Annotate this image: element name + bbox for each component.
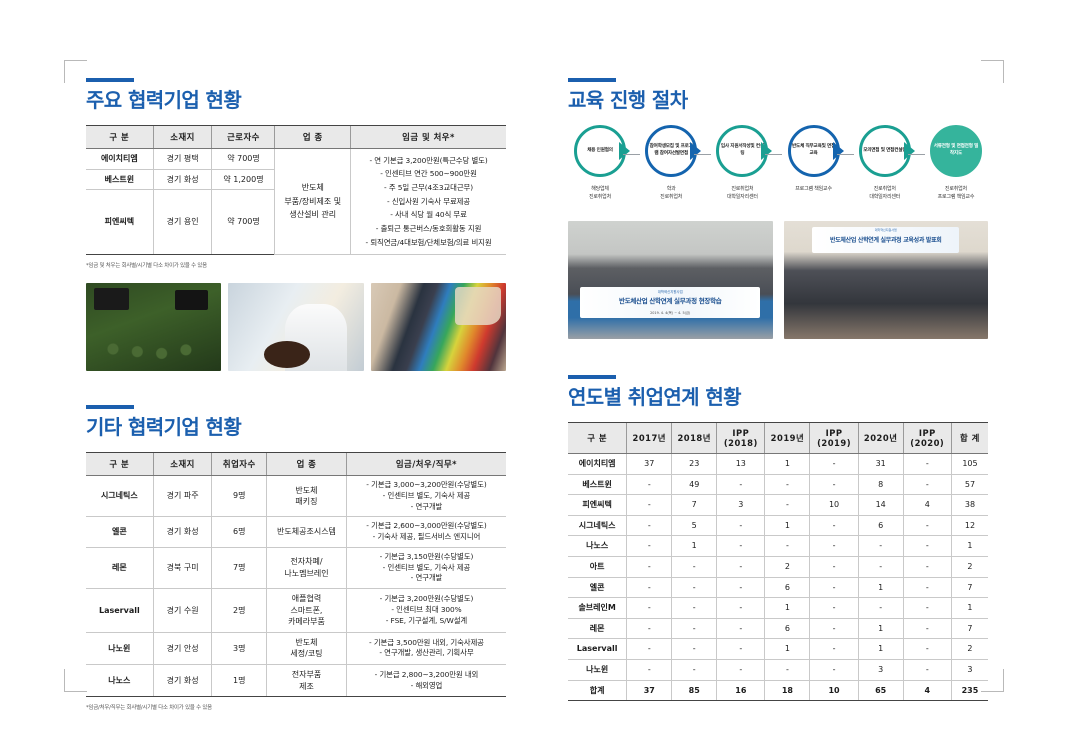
table-row: 나노윈경기 안성3명반도체 세정/코팅- 기본급 3,500만원 내외, 기숙사… xyxy=(86,632,506,664)
field-study-group-photo: 대학혁신지원사업 반도체산업 산학연계 실무과정 현장학습 2019. 4. 4… xyxy=(568,221,773,339)
cell-count: - xyxy=(903,659,951,680)
cell-wage: - 기본급 2,800~3,200만원 내외 - 해외영업 xyxy=(346,665,506,697)
table-row: 나노스경기 화성1명전자부품 제조- 기본급 2,800~3,200만원 내외 … xyxy=(86,665,506,697)
cell-count: - xyxy=(717,515,765,536)
cell-count: - xyxy=(765,659,810,680)
cell-count: 1 xyxy=(765,639,810,660)
cell-count: - xyxy=(903,556,951,577)
cell-count: - xyxy=(903,454,951,475)
cell-count: - xyxy=(627,495,672,516)
table-row: 시그네틱스경기 파주9명반도체 패키징- 기본급 3,000~3,200만원(수… xyxy=(86,476,506,517)
table-row: 에이치티엠 경기 평택 약 700명 반도체 부품/장비제조 및 생산설비 관리… xyxy=(86,149,506,170)
cell-count: - xyxy=(810,659,858,680)
table-row: 레몬---6-1-7 xyxy=(568,618,988,639)
cell-count: - xyxy=(672,659,717,680)
cell-count: 10 xyxy=(810,495,858,516)
document-page: 주요 협력기업 현황 구 분 소재지 근로자수 업 종 임금 및 처우* 에이치… xyxy=(0,0,1068,752)
column-header: 구 분 xyxy=(568,423,627,454)
cell-count: - xyxy=(810,515,858,536)
cell-company: 합계 xyxy=(568,680,627,701)
flow-step-circle: 서류전형 및 면접전형 밀착지도 xyxy=(930,125,982,177)
silicon-wafer-photo xyxy=(371,283,506,371)
cell-count: 1 xyxy=(765,454,810,475)
right-column: 교육 진행 절차 채용 인원협의해당업체 진로취업처참여학생모집 및 프로그램 … xyxy=(568,78,988,705)
column-header: 업 종 xyxy=(267,453,347,476)
crop-mark-bottom-left xyxy=(64,669,87,692)
flow-arrow-icon xyxy=(904,142,915,160)
flow-step-label: 서류전형 및 면접전형 밀착지도 xyxy=(933,144,979,158)
cell-count: - xyxy=(858,536,903,557)
cell-count: - xyxy=(627,515,672,536)
cell-count: - xyxy=(627,556,672,577)
cell-location: 경기 용인 xyxy=(153,190,212,255)
cell-count: 1 xyxy=(951,598,988,619)
flow-connector-line xyxy=(694,154,711,155)
cell-hires: 2명 xyxy=(212,589,267,633)
cell-count: - xyxy=(672,556,717,577)
cell-count: - xyxy=(765,474,810,495)
section-education-process: 교육 진행 절차 채용 인원협의해당업체 진로취업처참여학생모집 및 프로그램 … xyxy=(568,78,988,339)
cell-hires: 9명 xyxy=(212,476,267,517)
column-header: 2017년 xyxy=(627,423,672,454)
cell-count: - xyxy=(627,598,672,619)
cell-count: 5 xyxy=(672,515,717,536)
circuit-board-photo xyxy=(86,283,221,371)
cell-count: 1 xyxy=(951,536,988,557)
banner-subtitle: 대학혁신지원사업 xyxy=(580,289,760,294)
column-header: 합 계 xyxy=(951,423,988,454)
cleanroom-worker-photo xyxy=(228,283,363,371)
cell-count: - xyxy=(717,474,765,495)
crop-mark-top-left xyxy=(64,60,87,83)
cell-company: 베스트윈 xyxy=(568,474,627,495)
flow-step-owner: 프로그램 책임교수 xyxy=(795,186,832,194)
flow-connector-line xyxy=(908,154,925,155)
cell-location: 경기 수원 xyxy=(153,589,212,633)
cell-count: 7 xyxy=(951,577,988,598)
education-photo-strip: 대학혁신지원사업 반도체산업 산학연계 실무과정 현장학습 2019. 4. 4… xyxy=(568,221,988,339)
cell-count: 31 xyxy=(858,454,903,475)
cell-count: - xyxy=(810,598,858,619)
cell-count: - xyxy=(717,536,765,557)
cell-wage: - 연 기본급 3,200만원(특근수당 별도) - 인센티브 연간 500~9… xyxy=(351,149,506,255)
flow-step-4: 반도체 직무교육및 면접교육프로그램 책임교수 xyxy=(782,125,846,194)
flow-step-owner: 진로취업처 대학일자리센터 xyxy=(869,186,900,201)
table-header-row: 구 분 소재지 취업자수 업 종 임금/처우/직무* xyxy=(86,453,506,476)
cell-company: 피엔씨텍 xyxy=(568,495,627,516)
table-row: 나노스-1-----1 xyxy=(568,536,988,557)
yearly-placement-table: 구 분2017년2018년IPP (2018)2019년IPP (2019)20… xyxy=(568,422,988,701)
cell-count: - xyxy=(810,639,858,660)
education-process-flow: 채용 인원협의해당업체 진로취업처참여학생모집 및 프로그램 참여자선발면접학과… xyxy=(568,125,988,201)
cell-count: 6 xyxy=(765,577,810,598)
cell-count: 2 xyxy=(951,556,988,577)
table-row: 시그네틱스-5-1-6-12 xyxy=(568,515,988,536)
cell-location: 경기 평택 xyxy=(153,149,212,170)
flow-connector-line xyxy=(623,154,640,155)
flow-step-owner: 진로취업처 대학일자리센터 xyxy=(727,186,758,201)
cell-count: 2 xyxy=(765,556,810,577)
cell-count: 1 xyxy=(858,639,903,660)
table-header-row: 구 분 소재지 근로자수 업 종 임금 및 처우* xyxy=(86,126,506,149)
photo-banner: 대학혁신지원사업 반도체산업 산학연계 실무과정 현장학습 2019. 4. 4… xyxy=(580,287,760,318)
table-row: 나노윈-----3-3 xyxy=(568,659,988,680)
cell-company: 나노스 xyxy=(86,665,153,697)
cell-company: Laservall xyxy=(86,589,153,633)
flow-step-label: 채용 인원협의 xyxy=(587,148,613,155)
cell-count: 10 xyxy=(810,680,858,701)
table-row: 엘콘---6-1-7 xyxy=(568,577,988,598)
table-row: 피엔씨텍-73-1014438 xyxy=(568,495,988,516)
column-header: IPP (2020) xyxy=(903,423,951,454)
cell-count: - xyxy=(810,618,858,639)
cell-count: 3 xyxy=(858,659,903,680)
cell-count: - xyxy=(810,454,858,475)
flow-step-owner: 학과 진로취업처 xyxy=(660,186,682,201)
cell-count: 1 xyxy=(765,515,810,536)
section-main-partners: 주요 협력기업 현황 구 분 소재지 근로자수 업 종 임금 및 처우* 에이치… xyxy=(86,78,506,371)
flow-step-6: 서류전형 및 면접전형 밀착지도진로취업처 프로그램 책임교수 xyxy=(924,125,988,201)
cell-wage: - 기본급 3,150만원(수당별도) - 인센티브 별도, 기숙사 제공 - … xyxy=(346,547,506,588)
cell-count: 6 xyxy=(765,618,810,639)
cell-wage: - 기본급 3,500만원 내외, 기숙사제공 - 연구개발, 생산관리, 기획… xyxy=(346,632,506,664)
column-header: 취업자수 xyxy=(212,453,267,476)
table-row: 엘콘경기 화성6명반도체공조시스템- 기본급 2,600~3,000만원(수당별… xyxy=(86,517,506,547)
flow-step-5: 모의면접 및 면접컨설팅진로취업처 대학일자리센터 xyxy=(853,125,917,201)
cell-company: 엘콘 xyxy=(568,577,627,598)
cell-company: 나노윈 xyxy=(86,632,153,664)
cell-count: - xyxy=(627,639,672,660)
flow-arrow-icon xyxy=(690,142,701,160)
cell-count: - xyxy=(810,474,858,495)
cell-count: 16 xyxy=(717,680,765,701)
column-header: 2019년 xyxy=(765,423,810,454)
cell-count: - xyxy=(672,598,717,619)
table-row: 레몬경북 구미7명전자차폐/ 나노멤브레인- 기본급 3,150만원(수당별도)… xyxy=(86,547,506,588)
flow-arrow-icon xyxy=(761,142,772,160)
cell-count: - xyxy=(717,659,765,680)
cell-company: 에이치티엠 xyxy=(86,149,153,170)
table-footnote: *임금/처우/직무는 회사별/시기별 다소 차이가 있을 수 있음 xyxy=(86,703,506,711)
section-yearly-placement: 연도별 취업연계 현황 구 분2017년2018년IPP (2018)2019년… xyxy=(568,375,988,701)
flow-arrow-icon xyxy=(833,142,844,160)
cell-hires: 1명 xyxy=(212,665,267,697)
page-title-yearly-placement: 연도별 취업연계 현황 xyxy=(568,386,988,409)
cell-count: 12 xyxy=(951,515,988,536)
cell-count: - xyxy=(810,577,858,598)
cell-count: 38 xyxy=(951,495,988,516)
cell-count: - xyxy=(903,515,951,536)
table-row: 에이치티엠3723131-31-105 xyxy=(568,454,988,475)
cell-count: - xyxy=(717,556,765,577)
cell-count: - xyxy=(672,577,717,598)
cell-count: 1 xyxy=(672,536,717,557)
cell-count: - xyxy=(627,659,672,680)
flow-step-owner: 진로취업처 프로그램 책임교수 xyxy=(938,186,975,201)
column-header: IPP (2018) xyxy=(717,423,765,454)
cell-count: - xyxy=(672,618,717,639)
table-row: Laservall---1-1-2 xyxy=(568,639,988,660)
column-header: 2018년 xyxy=(672,423,717,454)
cell-company: 에이치티엠 xyxy=(568,454,627,475)
table-row: 솔브레인M---1---1 xyxy=(568,598,988,619)
cell-workers: 약 700명 xyxy=(212,149,275,170)
cell-count: 235 xyxy=(951,680,988,701)
cell-count: 2 xyxy=(951,639,988,660)
cell-count: 4 xyxy=(903,680,951,701)
flow-step-circle: 참여학생모집 및 프로그램 참여자선발면접 xyxy=(645,125,697,177)
cell-count: - xyxy=(765,495,810,516)
cell-count: 85 xyxy=(672,680,717,701)
column-header: 소재지 xyxy=(153,453,212,476)
cell-count: - xyxy=(810,536,858,557)
flow-step-circle: 모의면접 및 면접컨설팅 xyxy=(859,125,911,177)
cell-industry: 반도체 패키징 xyxy=(267,476,347,517)
cell-count: 23 xyxy=(672,454,717,475)
cell-count: 1 xyxy=(858,618,903,639)
flow-connector-line xyxy=(765,154,782,155)
accent-bar xyxy=(568,78,616,82)
column-header: 구 분 xyxy=(86,126,153,149)
cell-location: 경기 안성 xyxy=(153,632,212,664)
page-title-main-partners: 주요 협력기업 현황 xyxy=(86,89,506,112)
cell-count: 8 xyxy=(858,474,903,495)
cell-company: 피엔씨텍 xyxy=(86,190,153,255)
cell-count: 18 xyxy=(765,680,810,701)
cell-company: 아트 xyxy=(568,556,627,577)
cell-company: Laservall xyxy=(568,639,627,660)
cell-location: 경기 화성 xyxy=(153,517,212,547)
cell-count: - xyxy=(810,556,858,577)
banner-date: 2019. 4. 4(목) ~ 4. 5(금) xyxy=(580,310,760,315)
cell-count: - xyxy=(627,577,672,598)
cell-wage: - 기본급 3,000~3,200만원(수당별도) - 인센티브 별도, 기숙사… xyxy=(346,476,506,517)
flow-step-label: 참여학생모집 및 프로그램 참여자선발면접 xyxy=(648,144,694,158)
cell-count: - xyxy=(717,618,765,639)
cell-wage: - 기본급 2,600~3,000만원(수당별도) - 기숙사 제공, 필드서비… xyxy=(346,517,506,547)
table-row: 합계3785161810654235 xyxy=(568,680,988,701)
cell-count: 105 xyxy=(951,454,988,475)
cell-location: 경북 구미 xyxy=(153,547,212,588)
section-other-partners: 기타 협력기업 현황 구 분 소재지 취업자수 업 종 임금/처우/직무* 시그… xyxy=(86,405,506,711)
cell-count: 3 xyxy=(951,659,988,680)
cell-count: - xyxy=(765,536,810,557)
cell-industry: 반도체 세정/코팅 xyxy=(267,632,347,664)
cell-count: - xyxy=(903,618,951,639)
page-title-other-partners: 기타 협력기업 현황 xyxy=(86,416,506,439)
cell-count: - xyxy=(903,577,951,598)
cell-count: 49 xyxy=(672,474,717,495)
flow-step-circle: 입사 지원서작성및 컨설팅 xyxy=(716,125,768,177)
cell-count: 1 xyxy=(858,577,903,598)
banner-subtitle: 대학혁신지원사업 xyxy=(812,228,959,232)
cell-wage: - 기본급 3,200만원(수당별도) - 인센티브 최대 300% - FSE… xyxy=(346,589,506,633)
cell-count: - xyxy=(717,577,765,598)
cell-company: 베스트윈 xyxy=(86,169,153,190)
accent-bar xyxy=(86,405,134,409)
cell-industry: 반도체공조시스템 xyxy=(267,517,347,547)
cell-count: - xyxy=(717,639,765,660)
table-footnote: *임금 및 처우는 회사별/시기별 다소 차이가 있을 수 있음 xyxy=(86,261,506,269)
flow-step-1: 채용 인원협의해당업체 진로취업처 xyxy=(568,125,632,201)
flow-step-circle: 채용 인원협의 xyxy=(574,125,626,177)
cell-count: - xyxy=(627,474,672,495)
cell-company: 엘콘 xyxy=(86,517,153,547)
cell-count: - xyxy=(903,536,951,557)
cell-hires: 7명 xyxy=(212,547,267,588)
cell-count: - xyxy=(858,598,903,619)
table-row: Laservall경기 수원2명애플협력 스마트폰, 카메라부품- 기본급 3,… xyxy=(86,589,506,633)
cell-count: 37 xyxy=(627,454,672,475)
cell-workers: 약 700명 xyxy=(212,190,275,255)
column-header: 업 종 xyxy=(275,126,351,149)
cell-count: - xyxy=(903,639,951,660)
cell-industry: 전자부품 제조 xyxy=(267,665,347,697)
results-presentation-group-photo: 대학혁신지원사업 반도체산업 산학연계 실무과정 교육성과 발표회 xyxy=(784,221,989,339)
semiconductor-photo-strip xyxy=(86,283,506,371)
flow-step-3: 입사 지원서작성및 컨설팅진로취업처 대학일자리센터 xyxy=(710,125,774,201)
cell-count: 7 xyxy=(951,618,988,639)
cell-company: 레몬 xyxy=(86,547,153,588)
flow-step-label: 반도체 직무교육및 면접교육 xyxy=(791,144,837,158)
cell-count: 7 xyxy=(672,495,717,516)
cell-count: - xyxy=(903,598,951,619)
cell-location: 경기 화성 xyxy=(153,169,212,190)
column-header: 임금 및 처우* xyxy=(351,126,506,149)
cell-industry: 애플협력 스마트폰, 카메라부품 xyxy=(267,589,347,633)
column-header: 임금/처우/직무* xyxy=(346,453,506,476)
cell-count: 13 xyxy=(717,454,765,475)
table-row: 아트---2---2 xyxy=(568,556,988,577)
cell-company: 레몬 xyxy=(568,618,627,639)
column-header: IPP (2019) xyxy=(810,423,858,454)
accent-bar xyxy=(86,78,134,82)
flow-step-2: 참여학생모집 및 프로그램 참여자선발면접학과 진로취업처 xyxy=(639,125,703,201)
column-header: 소재지 xyxy=(153,126,212,149)
column-header: 구 분 xyxy=(86,453,153,476)
page-title-education-process: 교육 진행 절차 xyxy=(568,89,988,112)
cell-count: - xyxy=(672,639,717,660)
cell-company: 나노스 xyxy=(568,536,627,557)
cell-workers: 약 1,200명 xyxy=(212,169,275,190)
accent-bar xyxy=(568,375,616,379)
flow-step-owner: 해당업체 진로취업처 xyxy=(589,186,611,201)
flow-step-label: 입사 지원서작성및 컨설팅 xyxy=(719,144,765,158)
cell-industry: 전자차폐/ 나노멤브레인 xyxy=(267,547,347,588)
cell-company: 시그네틱스 xyxy=(86,476,153,517)
banner-title: 반도체산업 산학연계 실무과정 현장학습 xyxy=(580,295,760,305)
left-column: 주요 협력기업 현황 구 분 소재지 근로자수 업 종 임금 및 처우* 에이치… xyxy=(86,78,506,715)
column-header: 근로자수 xyxy=(212,126,275,149)
cell-company: 시그네틱스 xyxy=(568,515,627,536)
table-row: 베스트윈-49---8-57 xyxy=(568,474,988,495)
cell-count: 3 xyxy=(717,495,765,516)
cell-count: - xyxy=(627,536,672,557)
table-header-row: 구 분2017년2018년IPP (2018)2019년IPP (2019)20… xyxy=(568,423,988,454)
cell-location: 경기 화성 xyxy=(153,665,212,697)
cell-count: - xyxy=(717,598,765,619)
cell-industry: 반도체 부품/장비제조 및 생산설비 관리 xyxy=(275,149,351,255)
cell-count: - xyxy=(858,556,903,577)
cell-count: 65 xyxy=(858,680,903,701)
cell-company: 나노윈 xyxy=(568,659,627,680)
cell-hires: 3명 xyxy=(212,632,267,664)
flow-connector-line xyxy=(837,154,854,155)
flow-arrow-icon xyxy=(619,142,630,160)
cell-hires: 6명 xyxy=(212,517,267,547)
cell-count: 4 xyxy=(903,495,951,516)
flow-step-circle: 반도체 직무교육및 면접교육 xyxy=(788,125,840,177)
column-header: 2020년 xyxy=(858,423,903,454)
cell-count: 6 xyxy=(858,515,903,536)
cell-count: 57 xyxy=(951,474,988,495)
banner-title: 반도체산업 산학연계 실무과정 교육성과 발표회 xyxy=(812,235,959,244)
photo-banner: 대학혁신지원사업 반도체산업 산학연계 실무과정 교육성과 발표회 xyxy=(812,227,959,253)
cell-location: 경기 파주 xyxy=(153,476,212,517)
cell-count: 37 xyxy=(627,680,672,701)
cell-count: - xyxy=(903,474,951,495)
flow-step-label: 모의면접 및 면접컨설팅 xyxy=(863,148,906,155)
cell-count: 1 xyxy=(765,598,810,619)
main-partners-table: 구 분 소재지 근로자수 업 종 임금 및 처우* 에이치티엠 경기 평택 약 … xyxy=(86,125,506,255)
other-partners-table: 구 분 소재지 취업자수 업 종 임금/처우/직무* 시그네틱스경기 파주9명반… xyxy=(86,452,506,697)
cell-count: 14 xyxy=(858,495,903,516)
cell-count: - xyxy=(627,618,672,639)
cell-company: 솔브레인M xyxy=(568,598,627,619)
